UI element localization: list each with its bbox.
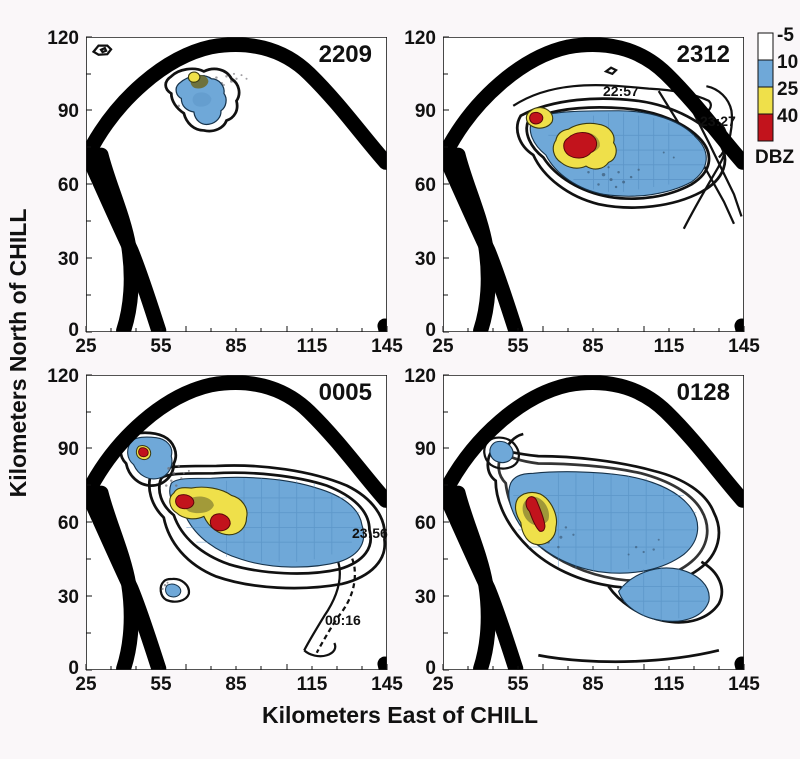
range-arc-corner-tick (385, 664, 386, 668)
colorbar-label-minus5: -5 (777, 25, 794, 46)
x-tick-25: 25 (432, 674, 454, 695)
x-tick-145: 145 (728, 336, 760, 357)
colorbar-swatch-minus5 (758, 33, 773, 60)
panel-0005: 0005 23:56 00:16 (86, 375, 388, 670)
annotation-2327: 23:27 (700, 113, 736, 129)
colorbar-label-25: 25 (777, 79, 799, 100)
y-tick-90: 90 (58, 439, 79, 460)
panel-2312: 2312 22:57 23:27 (443, 37, 744, 332)
colorbar-swatch-10 (758, 60, 773, 87)
y-tick-120: 120 (47, 366, 79, 387)
y-tick-60: 60 (58, 513, 79, 534)
panel-2209-plot (86, 37, 387, 332)
annotation-2356: 23:56 (352, 525, 388, 541)
panel-2209: 2209 (86, 37, 387, 332)
x-tick-25: 25 (75, 336, 97, 357)
x-tick-115: 115 (654, 674, 685, 695)
x-tick-85: 85 (225, 674, 247, 695)
x-axis-label: Kilometers East of CHILL (262, 702, 538, 728)
echo-40dbz-red-a (176, 495, 194, 509)
panel-0128: 0128 (443, 375, 744, 670)
x-tick-55: 55 (150, 336, 172, 357)
panel-label-2312: 2312 (677, 41, 730, 68)
panel-0128-plot (443, 375, 744, 670)
radar-reflectivity-figure: 2209 (0, 0, 800, 759)
x-tick-115: 115 (297, 674, 328, 695)
y-tick-90: 90 (415, 101, 436, 122)
x-tick-55: 55 (507, 674, 529, 695)
y-tick-60: 60 (58, 175, 79, 196)
echo-25dbz-yellow (188, 72, 199, 82)
y-tick-90: 90 (415, 439, 436, 460)
x-tick-25: 25 (75, 674, 97, 695)
y-tick-60: 60 (415, 513, 436, 534)
panel-2312-plot (443, 37, 744, 332)
echo-10dbz-blue-south (166, 584, 181, 597)
annotation-2257: 22:57 (603, 83, 639, 99)
colorbar-label-10: 10 (777, 52, 798, 73)
colorbar-swatch-25 (758, 87, 773, 114)
annotation-0016: 00:16 (325, 612, 361, 628)
range-arc-corner-tick (385, 326, 386, 330)
x-tick-25: 25 (432, 336, 454, 357)
x-tick-85: 85 (582, 336, 604, 357)
x-tick-85: 85 (225, 336, 247, 357)
y-tick-120: 120 (404, 366, 436, 387)
x-tick-85: 85 (582, 674, 604, 695)
colorbar-label-40: 40 (777, 106, 798, 127)
y-tick-120: 120 (47, 28, 79, 49)
y-tick-30: 30 (415, 249, 436, 270)
y-axis-label: Kilometers North of CHILL (5, 209, 31, 498)
y-tick-30: 30 (58, 587, 79, 608)
y-tick-120: 120 (404, 28, 436, 49)
colorbar-swatch-40 (758, 114, 773, 141)
y-tick-30: 30 (58, 249, 79, 270)
x-tick-55: 55 (507, 336, 529, 357)
x-tick-145: 145 (371, 336, 403, 357)
echo-40dbz-red-b (210, 514, 230, 531)
x-tick-145: 145 (371, 674, 403, 695)
y-tick-60: 60 (415, 175, 436, 196)
range-arc-corner-tick (742, 326, 743, 330)
panel-label-2209: 2209 (319, 41, 372, 68)
y-tick-30: 30 (415, 587, 436, 608)
x-tick-145: 145 (728, 674, 760, 695)
echo-40dbz-red-north (530, 112, 543, 123)
x-tick-115: 115 (297, 336, 328, 357)
x-tick-55: 55 (150, 674, 172, 695)
panel-label-0128: 0128 (677, 379, 730, 406)
panel-label-0005: 0005 (319, 379, 372, 406)
colorbar-title: DBZ (755, 147, 794, 168)
range-arc-corner-tick (742, 664, 743, 668)
y-tick-90: 90 (58, 101, 79, 122)
x-tick-115: 115 (654, 336, 685, 357)
echo-40dbz-red-north (139, 448, 149, 457)
